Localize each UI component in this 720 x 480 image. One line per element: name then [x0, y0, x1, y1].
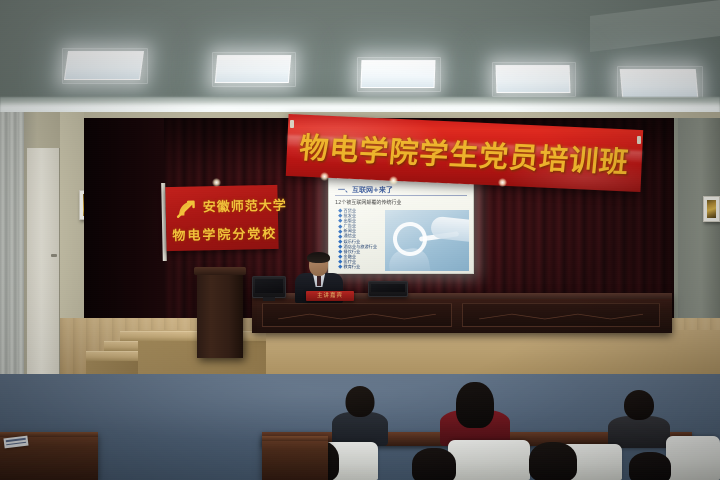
presenter-monitor-right[interactable]: [368, 281, 408, 297]
audience-head: [346, 386, 375, 417]
table-front-panel-left: [262, 303, 452, 327]
audience-head-long-hair: [456, 382, 494, 428]
diamond-bullet-icon: [338, 244, 342, 248]
ceiling-light-panel-3: [361, 60, 436, 88]
desk-top-edge: [262, 436, 328, 441]
diamond-bullet-icon: [338, 229, 342, 233]
audience-head-long-hair: [629, 452, 671, 480]
presenter-hair: [307, 252, 330, 263]
banner-light-spark-3: [498, 178, 507, 187]
chevron-inlay-left: [278, 313, 436, 320]
hammer-and-sickle-icon: [174, 196, 200, 222]
party-school-flag: 安徽师范大学 物电学院分党校: [165, 185, 278, 251]
monitor-screen-left: [255, 279, 283, 293]
ceiling-light-panel-1: [64, 51, 144, 80]
audience-head-long-hair: [412, 448, 456, 480]
ceiling-light-panel-2: [215, 55, 291, 83]
flag-university-name: 安徽师范大学: [203, 195, 287, 216]
slide-cable-knot-image: [385, 210, 469, 271]
monitor-base-left: [263, 297, 276, 301]
presenter-nameplate: 主讲嘉宾: [306, 291, 354, 301]
ceiling-light-panel-5: [620, 69, 699, 98]
banner-tie-right: [637, 136, 641, 144]
diamond-bullet-icon: [338, 250, 342, 254]
framed-painting-right: [703, 196, 720, 222]
diamond-bullet-icon: [338, 234, 342, 238]
monitor-screen-right: [371, 284, 405, 292]
side-door[interactable]: [27, 148, 60, 382]
speaking-podium: [197, 272, 243, 358]
stage-step-low: [86, 351, 138, 361]
audience-torso: [332, 412, 388, 446]
ceiling-light-panel-4: [496, 65, 571, 93]
audience-person-back-2: [440, 382, 510, 446]
slide-bullet-list: 百货业 批发业 出版业 广告业 新闻业 通信业 娱乐行业 酒店业与旅游行业 餐饮…: [339, 208, 385, 269]
list-item: 教育行业: [339, 264, 385, 269]
door-handle[interactable]: [51, 254, 57, 257]
presenter-tie: [317, 276, 321, 286]
slide-title-rule: [335, 195, 467, 196]
slide-subtitle: 12个被互联网颠覆的传统行业: [335, 199, 401, 206]
flag-school-name: 物电学院分党校: [172, 223, 277, 244]
audience-head: [624, 390, 654, 420]
diamond-bullet-icon: [338, 219, 342, 223]
diamond-bullet-icon: [338, 209, 342, 213]
banner-light-spark-1: [320, 172, 329, 181]
diamond-bullet-icon: [338, 214, 342, 218]
chevron-inlay-right: [479, 313, 644, 320]
podium-top-surface: [194, 267, 246, 275]
banner-light-spark-2: [389, 176, 398, 185]
audience-person-front-4: [628, 452, 672, 480]
table-front-panel-right: [462, 303, 660, 327]
stage-step-top: [120, 331, 266, 341]
audience-torso: [608, 416, 670, 448]
audience-chair-back-2: [448, 440, 530, 480]
presenter-monitor-left[interactable]: [252, 276, 286, 298]
diamond-bullet-icon: [338, 224, 342, 228]
slide-title: 一、互联网+来了: [338, 185, 393, 195]
audience-person-back-3: [608, 390, 670, 446]
nameplate-text: 主讲嘉宾: [306, 291, 354, 301]
audience-person-front-2: [410, 448, 458, 480]
foreground-desk-right: [262, 436, 328, 480]
audience-person-front-3: [528, 442, 578, 480]
lecture-hall-photo: 安徽师范大学 物电学院分党校 一、互联网+来了 12个被互联网颠覆的传统行业 百…: [0, 0, 720, 480]
banner-tie-left: [290, 120, 294, 128]
audience-chair-back-4: [666, 436, 720, 480]
audience-head-long-hair: [529, 442, 577, 480]
audience-person-back-1: [332, 386, 388, 444]
diamond-bullet-icon: [338, 239, 342, 243]
stage-light-spark-4: [212, 178, 221, 187]
projection-screen: 一、互联网+来了 12个被互联网颠覆的传统行业 百货业 批发业 出版业 广告业 …: [328, 176, 474, 274]
